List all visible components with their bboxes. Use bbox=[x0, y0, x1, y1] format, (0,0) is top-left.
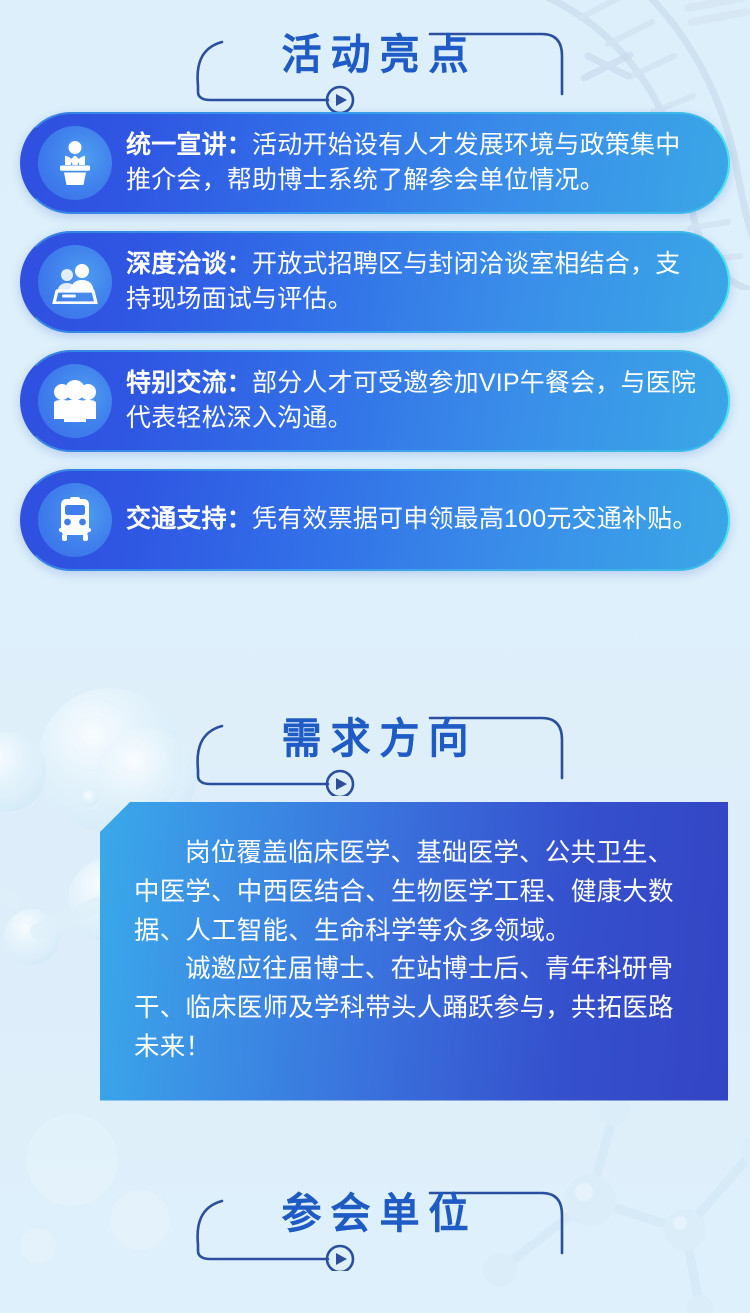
highlight-card-text: 深度洽谈：开放式招聘区与封闭洽谈室相结合，支持现场面试与评估。 bbox=[126, 247, 704, 318]
highlight-card-list: 统一宣讲：活动开始设有人才发展环境与政策集中推介会，帮助博士系统了解参会单位情况… bbox=[0, 112, 750, 571]
section-title-text: 活动亮点 bbox=[0, 21, 750, 82]
poster-page: 活动亮点 统一宣讲：活动开始设有人才发展环境与政策集中推介会，帮助博士系统了解参… bbox=[0, 0, 750, 1313]
highlight-card[interactable]: 深度洽谈：开放式招聘区与封闭洽谈室相结合，支持现场面试与评估。 bbox=[20, 231, 730, 333]
section-title-text: 参会单位 bbox=[0, 1179, 750, 1240]
bus-icon bbox=[38, 483, 112, 557]
demand-section: 岗位覆盖临床医学、基础医学、公共卫生、中医学、中西医结合、生物医学工程、健康大数… bbox=[0, 802, 750, 1101]
demand-paragraph: 岗位覆盖临床医学、基础医学、公共卫生、中医学、中西医结合、生物医学工程、健康大数… bbox=[134, 834, 694, 950]
demand-text-box: 岗位覆盖临床医学、基础医学、公共卫生、中医学、中西医结合、生物医学工程、健康大数… bbox=[100, 802, 728, 1101]
section-header-demand: 需求方向 bbox=[0, 684, 750, 796]
highlight-card[interactable]: 交通支持：凭有效票据可申领最高100元交通补贴。 bbox=[20, 469, 730, 571]
demand-paragraph: 诚邀应往届博士、在站博士后、青年科研骨干、临床医师及学科带头人踊跃参与，共拓医路… bbox=[134, 950, 694, 1066]
highlight-card-lead: 特别交流： bbox=[126, 369, 252, 397]
section-header-participants: 参会单位 bbox=[0, 1159, 750, 1271]
highlight-card-lead: 深度洽谈： bbox=[126, 250, 252, 278]
highlight-card-text: 交通支持：凭有效票据可申领最高100元交通补贴。 bbox=[126, 502, 704, 538]
section-header-highlights: 活动亮点 bbox=[0, 0, 750, 112]
highlight-card-detail: 凭有效票据可申领最高100元交通补贴。 bbox=[252, 505, 698, 533]
highlight-card-lead: 交通支持： bbox=[126, 505, 252, 533]
highlight-card[interactable]: 特别交流：部分人才可受邀参加VIP午餐会，与医院代表轻松深入沟通。 bbox=[20, 350, 730, 452]
people-group-icon bbox=[38, 364, 112, 438]
highlight-card-text: 特别交流：部分人才可受邀参加VIP午餐会，与医院代表轻松深入沟通。 bbox=[126, 366, 704, 437]
highlight-card[interactable]: 统一宣讲：活动开始设有人才发展环境与政策集中推介会，帮助博士系统了解参会单位情况… bbox=[20, 112, 730, 214]
highlight-card-lead: 统一宣讲： bbox=[126, 131, 252, 159]
section-title-text: 需求方向 bbox=[0, 705, 750, 766]
highlight-card-text: 统一宣讲：活动开始设有人才发展环境与政策集中推介会，帮助博士系统了解参会单位情况… bbox=[126, 128, 704, 199]
podium-speaker-icon bbox=[38, 126, 112, 200]
interview-desk-icon bbox=[38, 245, 112, 319]
